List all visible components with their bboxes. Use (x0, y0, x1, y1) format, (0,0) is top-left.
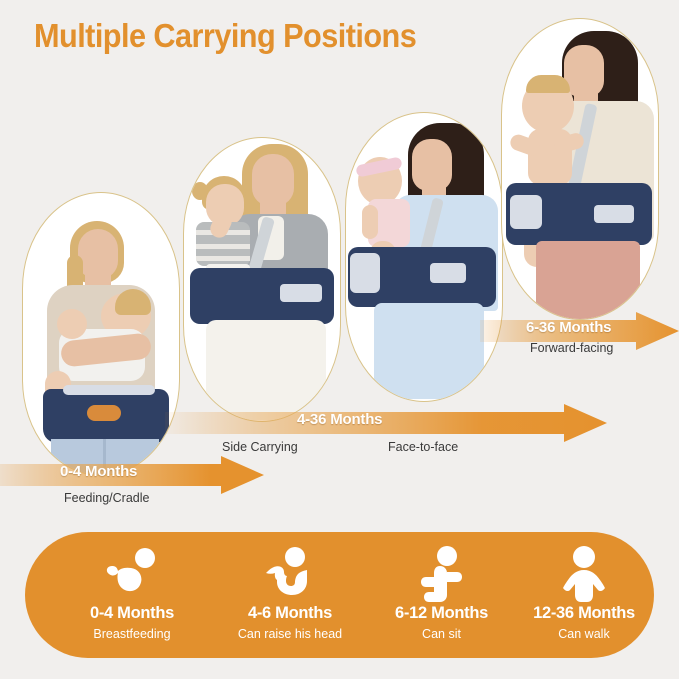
milestone-age: 12-36 Months (514, 604, 654, 623)
photo-forward-facing (502, 19, 658, 319)
baby-arm (362, 205, 378, 239)
milestone-age: 0-4 Months (53, 604, 211, 623)
caption-forward-facing: Forward-facing (530, 341, 613, 355)
arrow-shape (165, 404, 607, 442)
baby-lying-icon (53, 546, 211, 598)
milestone-age: 4-6 Months (211, 604, 369, 623)
caption-side-carrying: Side Carrying (222, 440, 298, 454)
infographic-root: Multiple Carrying Positions (0, 0, 679, 679)
arrow-label-feeding-cradle: 0-4 Months (60, 463, 137, 480)
milestones-bar: 0-4 Months Breastfeeding 4-6 Months Can … (25, 532, 654, 658)
carrier-buckle (280, 284, 322, 302)
shirt-stripe (196, 256, 250, 261)
photo-feeding-cradle (23, 193, 179, 475)
photo-side-carrying (184, 138, 340, 421)
carrier-waist-band (63, 385, 155, 395)
mother-skirt (374, 303, 484, 399)
arrow-label-side-carrying: 4-36 Months (297, 411, 382, 428)
baby-raise-head-icon (211, 546, 369, 598)
baby-standing-icon (514, 546, 654, 598)
milestone-item-can-walk: 12-36 Months Can walk (514, 532, 654, 658)
arrow-banner-side-carrying (165, 404, 607, 442)
baby-arm (57, 309, 87, 339)
baby-sitting-icon (369, 546, 514, 598)
milestone-ability: Breastfeeding (53, 627, 211, 641)
carrier-pocket (350, 253, 380, 293)
milestone-ability: Can sit (369, 627, 514, 641)
photo-panel-side-carrying (183, 137, 341, 422)
photo-panel-feeding-cradle (22, 192, 180, 476)
milestone-item-raise-head: 4-6 Months Can raise his head (211, 532, 369, 658)
caption-feeding-cradle: Feeding/Cradle (64, 491, 149, 505)
baby-hair (526, 75, 570, 93)
milestone-item-breastfeeding: 0-4 Months Breastfeeding (53, 532, 211, 658)
milestone-item-can-sit: 6-12 Months Can sit (369, 532, 514, 658)
mother-skirt (536, 241, 640, 319)
milestone-ability: Can walk (514, 627, 654, 641)
carrier-pocket (510, 195, 542, 229)
carrier-buckle (594, 205, 634, 223)
photo-face-to-face (346, 113, 502, 401)
arrow-label-forward-facing: 6-36 Months (526, 319, 611, 336)
photo-panel-forward-facing (501, 18, 659, 320)
carrier-logo-badge (87, 405, 121, 421)
photo-panel-face-to-face (345, 112, 503, 402)
carrier-buckle (430, 263, 466, 283)
milestone-ability: Can raise his head (211, 627, 369, 641)
milestone-age: 6-12 Months (369, 604, 514, 623)
page-title: Multiple Carrying Positions (34, 17, 416, 55)
shirt-stripe (196, 244, 250, 249)
caption-face-to-face: Face-to-face (388, 440, 458, 454)
